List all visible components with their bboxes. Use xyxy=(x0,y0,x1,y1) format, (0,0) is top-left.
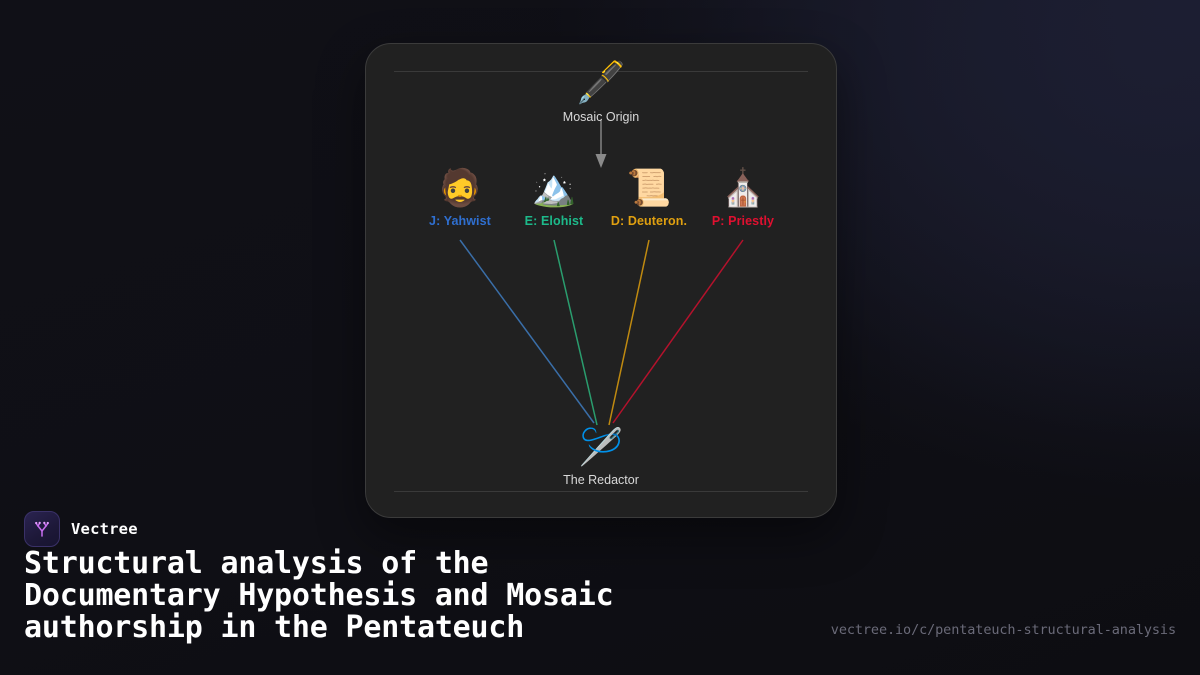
page-title: Structural analysis of the Documentary H… xyxy=(24,548,804,644)
root-arrow-icon xyxy=(596,120,607,168)
graph-node-label-mosaic-origin: Mosaic Origin xyxy=(526,110,676,124)
graph-node-label-priestly: P: Priestly xyxy=(668,214,818,228)
permalink-url: vectree.io/c/pentateuch-structural-analy… xyxy=(831,622,1176,638)
church-icon: ⛪ xyxy=(668,171,818,207)
share-card-canvas: 🖋️ Mosaic Origin 🧔 J: Yahwist 🏔️ E: Eloh… xyxy=(0,0,1200,675)
graph-node-the-redactor[interactable]: 🪡 The Redactor xyxy=(526,430,676,487)
brand-name: Vectree xyxy=(71,520,138,538)
graph-node-mosaic-origin[interactable]: 🖋️ Mosaic Origin xyxy=(526,63,676,124)
graph-node-priestly[interactable]: ⛪ P: Priestly xyxy=(668,171,818,228)
edge-yahwist-redactor xyxy=(460,240,594,423)
graph-node-label-the-redactor: The Redactor xyxy=(526,473,676,487)
source-criticism-graph: 🖋️ Mosaic Origin 🧔 J: Yahwist 🏔️ E: Eloh… xyxy=(366,44,836,517)
vectree-tree-logo-icon xyxy=(24,511,60,547)
edge-priestly-redactor xyxy=(613,240,743,423)
brand-lockup: Vectree xyxy=(24,511,138,547)
sewing-needle-icon: 🪡 xyxy=(526,430,676,466)
fountain-pen-icon: 🖋️ xyxy=(526,63,676,103)
edge-deuteronomist-redactor xyxy=(609,240,649,425)
diagram-card: 🖋️ Mosaic Origin 🧔 J: Yahwist 🏔️ E: Eloh… xyxy=(365,43,837,518)
